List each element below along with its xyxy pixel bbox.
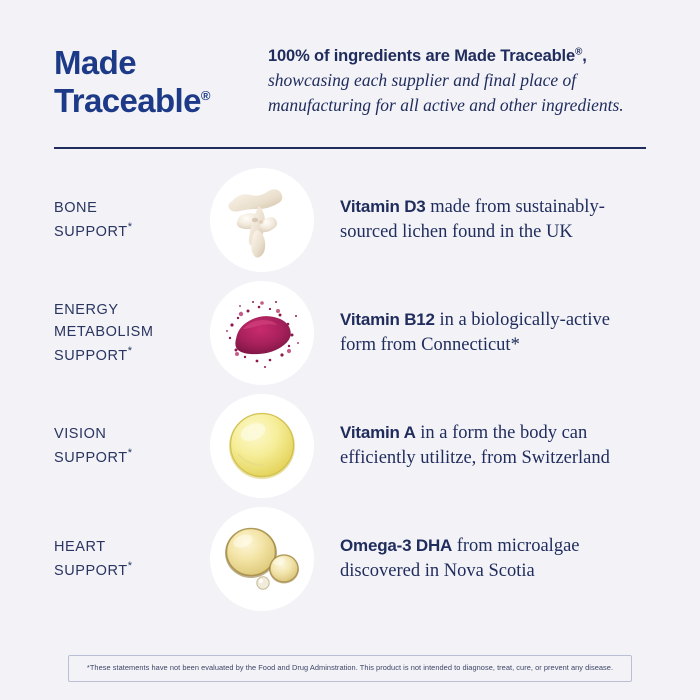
benefit-label-line: METABOLISM <box>54 321 206 343</box>
header-copy: 100% of ingredients are Made Traceable®,… <box>268 42 646 117</box>
benefit-desc-lead: Vitamin D3 <box>340 197 426 216</box>
benefit-desc-vision-support: Vitamin A in a form the body can efficie… <box>318 421 646 471</box>
disclaimer-text: *These statements have not been evaluate… <box>81 664 619 673</box>
asterisk-marker: * <box>128 447 133 459</box>
benefit-media-energy-metabolism-support <box>206 281 318 385</box>
header: Made Traceable® 100% of ingredients are … <box>0 0 700 119</box>
benefit-desc-lead: Vitamin B12 <box>340 310 435 329</box>
brand-word-traceable: Traceable <box>54 82 201 119</box>
header-subtitle-line-1: showcasing each supplier and final place… <box>268 69 646 92</box>
benefit-label-line: SUPPORT* <box>54 558 206 582</box>
header-lead-comma: , <box>582 47 586 65</box>
brand-word-made: Made <box>54 44 136 81</box>
golden-oil-droplets-image <box>210 507 314 611</box>
magenta-powder-image <box>210 281 314 385</box>
benefit-label-text: SUPPORT <box>54 563 128 579</box>
benefit-row-vision-support: VISION SUPPORT* <box>54 389 646 502</box>
made-traceable-panel: Made Traceable® 100% of ingredients are … <box>0 0 700 700</box>
yellow-oil-droplet-image <box>210 394 314 498</box>
benefit-label-line: SUPPORT* <box>54 219 206 243</box>
asterisk-marker: * <box>128 345 133 357</box>
disclaimer-box: *These statements have not been evaluate… <box>68 655 632 682</box>
benefit-label-vision-support: VISION SUPPORT* <box>54 423 206 469</box>
benefit-media-bone-support <box>206 168 318 272</box>
benefit-label-text: SUPPORT <box>54 450 128 466</box>
benefit-desc-bone-support: Vitamin D3 made from sustainably-sourced… <box>318 195 646 245</box>
benefit-label-energy-metabolism-support: ENERGY METABOLISM SUPPORT* <box>54 299 206 367</box>
benefit-desc-energy-metabolism-support: Vitamin B12 in a biologically-active for… <box>318 308 646 358</box>
benefit-row-energy-metabolism-support: ENERGY METABOLISM SUPPORT* <box>54 276 646 389</box>
header-subtitle-line-2: manufacturing for all active and other i… <box>268 94 646 117</box>
benefit-row-bone-support: BONE SUPPORT* <box>54 163 646 276</box>
header-lead: 100% of ingredients are Made Traceable®, <box>268 45 646 68</box>
benefit-label-heart-support: HEART SUPPORT* <box>54 536 206 582</box>
benefit-label-line: ENERGY <box>54 299 206 321</box>
benefit-row-heart-support: HEART SUPPORT* <box>54 502 646 615</box>
brand-line-2: Traceable® <box>54 82 268 120</box>
benefit-label-text: SUPPORT <box>54 224 128 240</box>
benefit-desc-heart-support: Omega-3 DHA from microalgae discovered i… <box>318 534 646 584</box>
asterisk-marker: * <box>128 221 133 233</box>
benefit-desc-lead: Omega-3 DHA <box>340 536 452 555</box>
benefit-rows: BONE SUPPORT* <box>0 149 700 615</box>
benefit-label-line: BONE <box>54 197 206 219</box>
benefit-media-heart-support <box>206 507 318 611</box>
benefit-media-vision-support <box>206 394 318 498</box>
header-lead-text: 100% of ingredients are Made Traceable <box>268 47 575 65</box>
benefit-label-text: SUPPORT <box>54 348 128 364</box>
lichen-cream-blobs-image <box>210 168 314 272</box>
brand-line-1: Made <box>54 44 268 82</box>
asterisk-marker: * <box>128 560 133 572</box>
brand-logo: Made Traceable® <box>54 42 268 119</box>
benefit-label-line: SUPPORT* <box>54 343 206 367</box>
registered-trademark-icon: ® <box>201 88 211 103</box>
benefit-label-line: HEART <box>54 536 206 558</box>
benefit-label-bone-support: BONE SUPPORT* <box>54 197 206 243</box>
benefit-label-line: SUPPORT* <box>54 445 206 469</box>
benefit-label-line: VISION <box>54 423 206 445</box>
benefit-desc-lead: Vitamin A <box>340 423 416 442</box>
